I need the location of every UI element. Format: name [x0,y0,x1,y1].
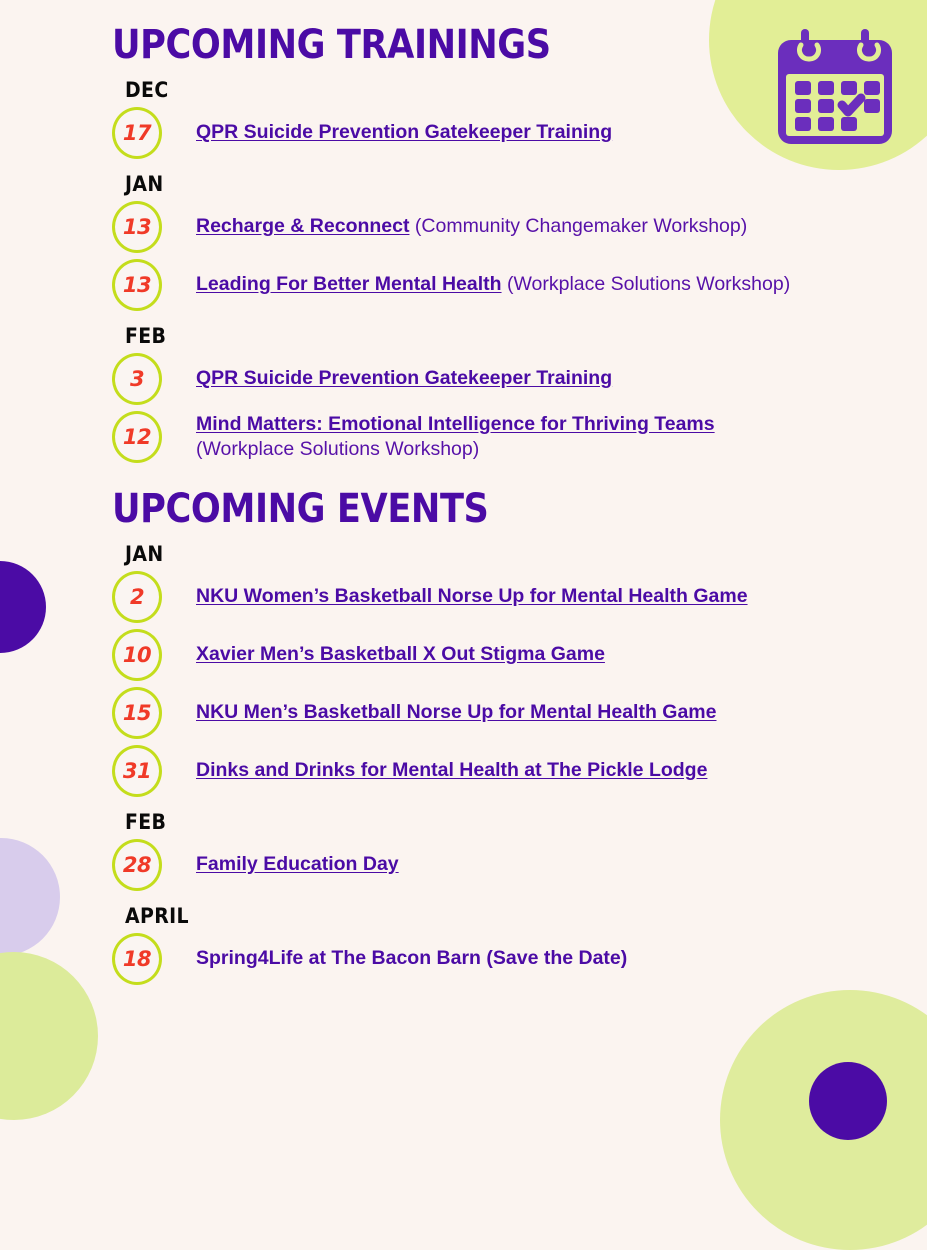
month-label: JAN [125,542,847,566]
entry-link[interactable]: NKU Men’s Basketball Norse Up for Mental… [196,701,716,723]
month-label: FEB [125,324,847,348]
date-badge: 2 [112,571,162,623]
date-badge: 3 [112,353,162,405]
entry-text: Dinks and Drinks for Mental Health at Th… [196,758,707,784]
entry-text: QPR Suicide Prevention Gatekeeper Traini… [196,366,612,392]
entry-link[interactable]: Mind Matters: Emotional Intelligence for… [196,413,715,435]
entry-link[interactable]: Dinks and Drinks for Mental Health at Th… [196,759,707,781]
date-badge: 17 [112,107,162,159]
entry-text: NKU Men’s Basketball Norse Up for Mental… [196,700,716,726]
entry-link[interactable]: Leading For Better Mental Health [196,273,502,295]
entry-link[interactable]: Family Education Day [196,853,399,875]
date-badge: 31 [112,745,162,797]
month-label: JAN [125,172,847,196]
entry-text: Spring4Life at The Bacon Barn (Save the … [196,946,627,972]
training-entry[interactable]: 13 Leading For Better Mental Health (Wor… [112,256,927,314]
entry-text: NKU Women’s Basketball Norse Up for Ment… [196,584,748,610]
date-badge: 15 [112,687,162,739]
entry-subtitle: (Workplace Solutions Workshop) [502,273,791,295]
month-group-jan: JAN 13 Recharge & Reconnect (Community C… [112,172,927,314]
page-content: UPCOMING TRAININGS DEC 17 QPR Suicide Pr… [0,0,927,988]
entry-link[interactable]: QPR Suicide Prevention Gatekeeper Traini… [196,367,612,389]
entry-text: Recharge & Reconnect (Community Changema… [196,214,747,240]
training-entry[interactable]: 12 Mind Matters: Emotional Intelligence … [112,408,927,466]
month-group-jan-events: JAN 2 NKU Women’s Basketball Norse Up fo… [112,542,927,800]
date-badge: 18 [112,933,162,985]
entry-subtitle: (Community Changemaker Workshop) [409,215,747,237]
decorative-circle-purple-bottom-right [809,1062,887,1140]
training-entry[interactable]: 17 QPR Suicide Prevention Gatekeeper Tra… [112,104,927,162]
entry-plain-text: Spring4Life at The Bacon Barn (Save the … [196,947,627,969]
training-entry[interactable]: 13 Recharge & Reconnect (Community Chang… [112,198,927,256]
entry-text: Leading For Better Mental Health (Workpl… [196,272,790,298]
section-title-events: UPCOMING EVENTS [112,486,829,532]
entry-link[interactable]: Xavier Men’s Basketball X Out Stigma Gam… [196,643,605,665]
month-label: DEC [125,78,847,102]
month-group-dec: DEC 17 QPR Suicide Prevention Gatekeeper… [112,78,927,162]
date-badge: 28 [112,839,162,891]
event-entry[interactable]: 2 NKU Women’s Basketball Norse Up for Me… [112,568,927,626]
date-badge: 10 [112,629,162,681]
month-label: FEB [125,810,847,834]
date-badge: 12 [112,411,162,463]
entry-text: Mind Matters: Emotional Intelligence for… [196,412,715,463]
entry-link[interactable]: QPR Suicide Prevention Gatekeeper Traini… [196,121,612,143]
entry-text: QPR Suicide Prevention Gatekeeper Traini… [196,120,612,146]
date-badge: 13 [112,201,162,253]
section-upcoming-trainings: UPCOMING TRAININGS DEC 17 QPR Suicide Pr… [0,0,927,466]
date-badge: 13 [112,259,162,311]
month-group-feb: FEB 3 QPR Suicide Prevention Gatekeeper … [112,324,927,466]
entry-subtitle: (Workplace Solutions Workshop) [196,438,479,460]
month-group-april-events: APRIL 18 Spring4Life at The Bacon Barn (… [112,904,927,988]
month-label: APRIL [125,904,847,928]
month-group-feb-events: FEB 28 Family Education Day [112,810,927,894]
entry-text: Family Education Day [196,852,399,878]
event-entry[interactable]: 28 Family Education Day [112,836,927,894]
event-entry[interactable]: 10 Xavier Men’s Basketball X Out Stigma … [112,626,927,684]
event-entry[interactable]: 31 Dinks and Drinks for Mental Health at… [112,742,927,800]
entry-text: Xavier Men’s Basketball X Out Stigma Gam… [196,642,605,668]
training-entry[interactable]: 3 QPR Suicide Prevention Gatekeeper Trai… [112,350,927,408]
event-entry[interactable]: 15 NKU Men’s Basketball Norse Up for Men… [112,684,927,742]
section-title-trainings: UPCOMING TRAININGS [112,22,829,68]
event-entry: 18 Spring4Life at The Bacon Barn (Save t… [112,930,927,988]
section-upcoming-events: UPCOMING EVENTS JAN 2 NKU Women’s Basket… [0,466,927,988]
entry-link[interactable]: NKU Women’s Basketball Norse Up for Ment… [196,585,748,607]
entry-link[interactable]: Recharge & Reconnect [196,215,409,237]
